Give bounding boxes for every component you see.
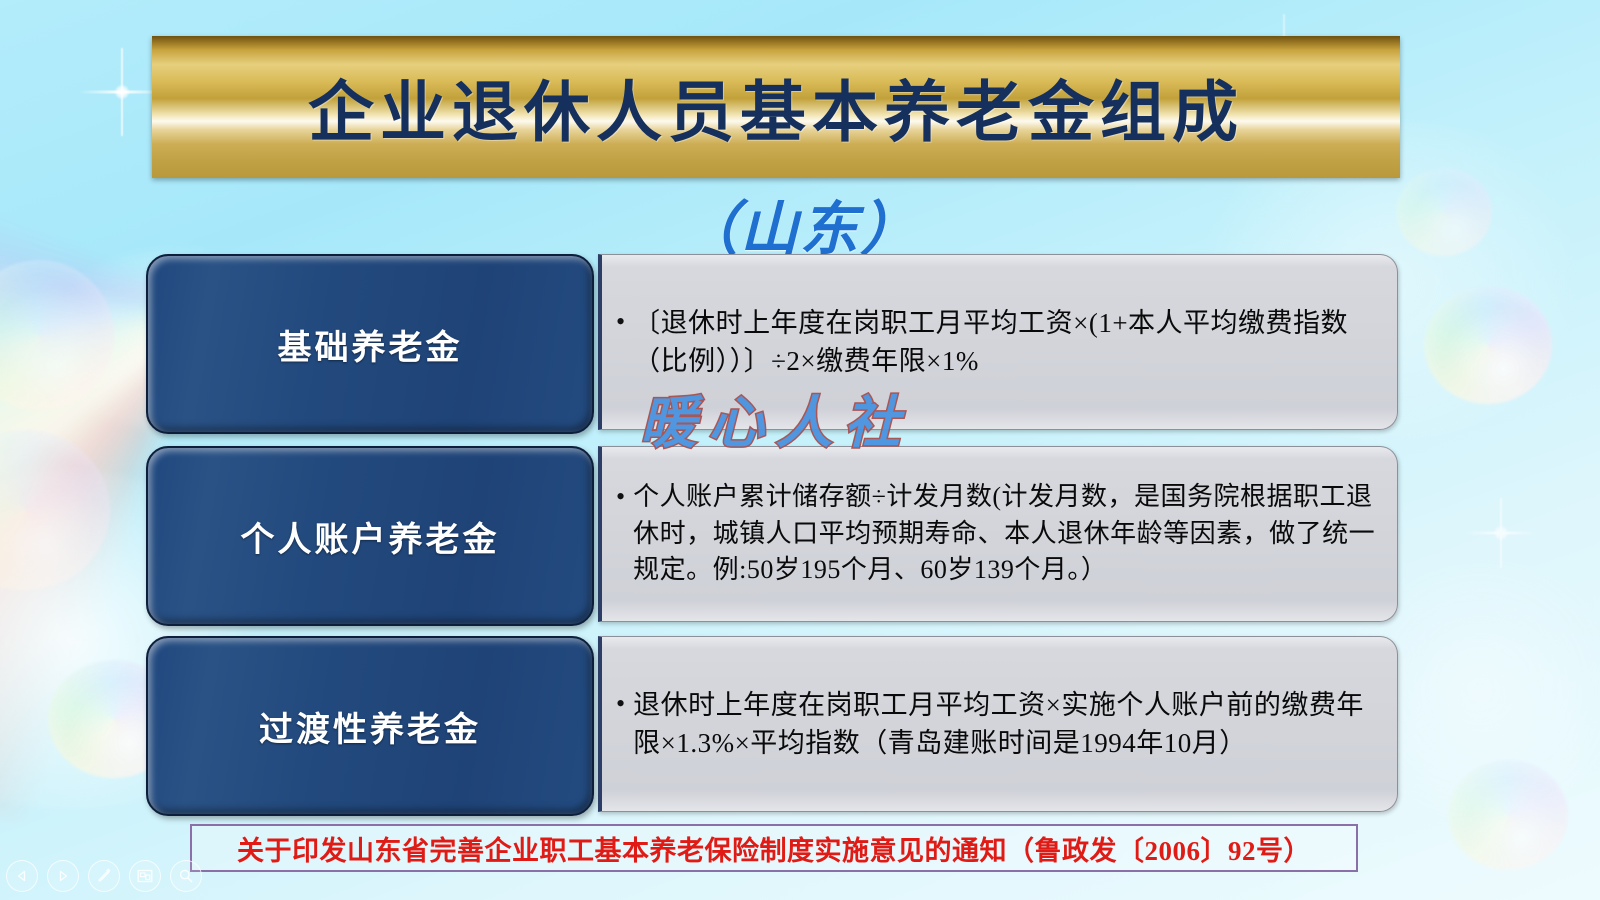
label-text: 过渡性养老金 [259,702,481,751]
bullet-text: 〔退休时上年度在岗职工月平均工资×(1+本人平均缴费指数（比例））〕÷2×缴费年… [633,304,1379,381]
triangle-right-icon [56,869,70,883]
bullet-text: 个人账户累计储存额÷计发月数(计发月数，是国务院根据职工退休时，城镇人口平均预期… [633,479,1379,590]
next-slide-button[interactable] [47,860,79,892]
slide-title: 企业退休人员基本养老金组成 [308,59,1244,155]
bullet-line: • 个人账户累计储存额÷计发月数(计发月数，是国务院根据职工退休时，城镇人口平均… [616,479,1379,590]
footer-note-text: 关于印发山东省完善企业职工基本养老保险制度实施意见的通知（鲁政发〔2006〕92… [237,829,1311,868]
zoom-tool-button[interactable] [170,860,202,892]
footer-note-box: 关于印发山东省完善企业职工基本养老保险制度实施意见的通知（鲁政发〔2006〕92… [190,824,1358,872]
content-box-personal-account-pension: • 个人账户累计储存额÷计发月数(计发月数，是国务院根据职工退休时，城镇人口平均… [598,446,1398,622]
bullet-dot-icon: • [616,686,625,723]
label-box-personal-account-pension[interactable]: 个人账户养老金 [146,446,594,626]
pen-icon [96,868,112,884]
slide-menu-button[interactable] [129,860,161,892]
presentation-slide: 企业退休人员基本养老金组成 （山东） 基础养老金 • 〔退休时上年度在岗职工月平… [0,0,1600,900]
slides-icon [137,869,153,883]
triangle-left-icon [15,869,29,883]
label-box-basic-pension[interactable]: 基础养老金 [146,254,594,434]
bullet-line: • 退休时上年度在岗职工月平均工资×实施个人账户前的缴费年限×1.3%×平均指数… [616,686,1379,763]
bullet-dot-icon: • [616,479,625,516]
content-box-transitional-pension: • 退休时上年度在岗职工月平均工资×实施个人账户前的缴费年限×1.3%×平均指数… [598,636,1398,812]
pen-tool-button[interactable] [88,860,120,892]
bullet-text: 退休时上年度在岗职工月平均工资×实施个人账户前的缴费年限×1.3%×平均指数（青… [633,686,1379,763]
bullet-line: • 〔退休时上年度在岗职工月平均工资×(1+本人平均缴费指数（比例））〕÷2×缴… [616,304,1379,381]
title-banner: 企业退休人员基本养老金组成 [152,36,1400,178]
content-row-3: 过渡性养老金 • 退休时上年度在岗职工月平均工资×实施个人账户前的缴费年限×1.… [0,636,1600,812]
bullet-dot-icon: • [616,304,625,341]
label-text: 个人账户养老金 [241,512,500,561]
label-text: 基础养老金 [278,320,463,369]
magnifier-icon [178,868,194,884]
content-row-2: 个人账户养老金 • 个人账户累计储存额÷计发月数(计发月数，是国务院根据职工退休… [0,446,1600,622]
watermark: 暖心人社 [640,378,912,459]
previous-slide-button[interactable] [6,860,38,892]
label-box-transitional-pension[interactable]: 过渡性养老金 [146,636,594,816]
presentation-toolbar [6,860,202,892]
